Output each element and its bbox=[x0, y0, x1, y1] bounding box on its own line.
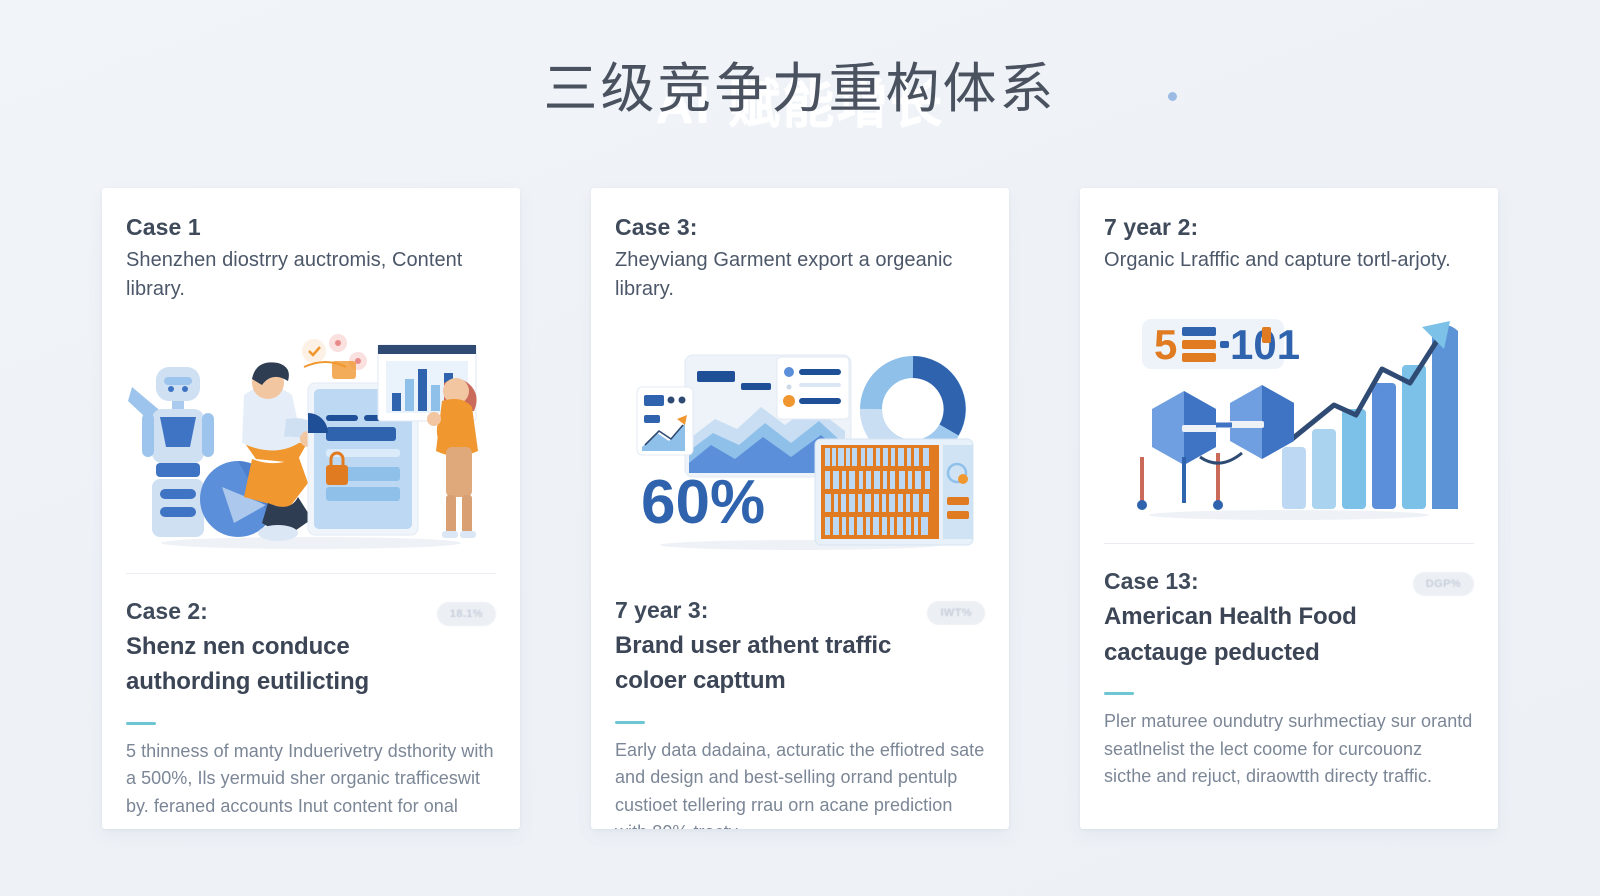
case-card-1[interactable]: Case 1 Shenzhen diostrry auctromis, Cont… bbox=[102, 188, 520, 829]
card-lower-section: Case 2: Shenz nen conduce authording eut… bbox=[126, 574, 496, 829]
card-eyebrow: Case 1 bbox=[126, 214, 496, 241]
card-eyebrow: 7 year 2: bbox=[1104, 214, 1474, 241]
lower-eyebrow: Case 13: bbox=[1104, 568, 1413, 595]
card-eyebrow: Case 3: bbox=[615, 214, 985, 241]
page-title: 三级竞争力重构体系 bbox=[544, 60, 1057, 119]
case-card-2[interactable]: Case 3: Zheyviang Garment export a orgea… bbox=[591, 188, 1009, 829]
lower-eyebrow: 7 year 3: bbox=[615, 597, 927, 624]
card-subtitle: Organic Lrafffic and capture tortl-arjot… bbox=[1104, 246, 1474, 275]
lower-body-text: 5 thinness of manty Induerivetry dsthori… bbox=[126, 738, 496, 820]
svg-text:60%: 60% bbox=[641, 468, 765, 537]
card-grid: Case 1 Shenzhen diostrry auctromis, Cont… bbox=[0, 180, 1600, 829]
lower-eyebrow: Case 2: bbox=[126, 598, 437, 625]
accent-line bbox=[615, 721, 645, 724]
accent-line bbox=[126, 722, 156, 725]
decorative-dot bbox=[1168, 92, 1177, 101]
status-badge: IWT% bbox=[927, 601, 985, 625]
page-header: AI 赋能增长 三级竞争力重构体系 bbox=[0, 0, 1600, 180]
accent-line bbox=[1104, 692, 1134, 695]
lower-title: American Health Food cactauge peducted bbox=[1104, 599, 1413, 670]
card-subtitle: Zheyviang Garment export a orgeanic libr… bbox=[615, 246, 985, 305]
lower-title: Shenz nen conduce authording eutilicting bbox=[126, 629, 437, 700]
lower-title: Brand user athent traffic coloer capttum bbox=[615, 628, 927, 699]
card-lower-section: Case 13: American Health Food cactauge p… bbox=[1104, 544, 1474, 829]
case-card-3[interactable]: 7 year 2: Organic Lrafffic and capture t… bbox=[1080, 188, 1498, 829]
card-lower-section: 7 year 3: Brand user athent traffic colo… bbox=[615, 573, 985, 829]
lower-body-text: Pler maturee oundutry surhmectiay sur or… bbox=[1104, 708, 1474, 790]
card-subtitle: Shenzhen diostrry auctromis, Content lib… bbox=[126, 246, 496, 305]
lower-body-text: Early data dadaina, acturatic the effiot… bbox=[615, 737, 985, 829]
team-ai-analytics-illustration bbox=[126, 327, 496, 553]
status-badge: DGP% bbox=[1413, 572, 1474, 596]
svg-text:5: 5 bbox=[1154, 321, 1177, 368]
dashboard-donut-library-illustration: 60% bbox=[615, 327, 985, 553]
growth-bars-nodes-illustration: 5 101 bbox=[1104, 297, 1474, 523]
status-badge: 18.1% bbox=[437, 602, 496, 626]
